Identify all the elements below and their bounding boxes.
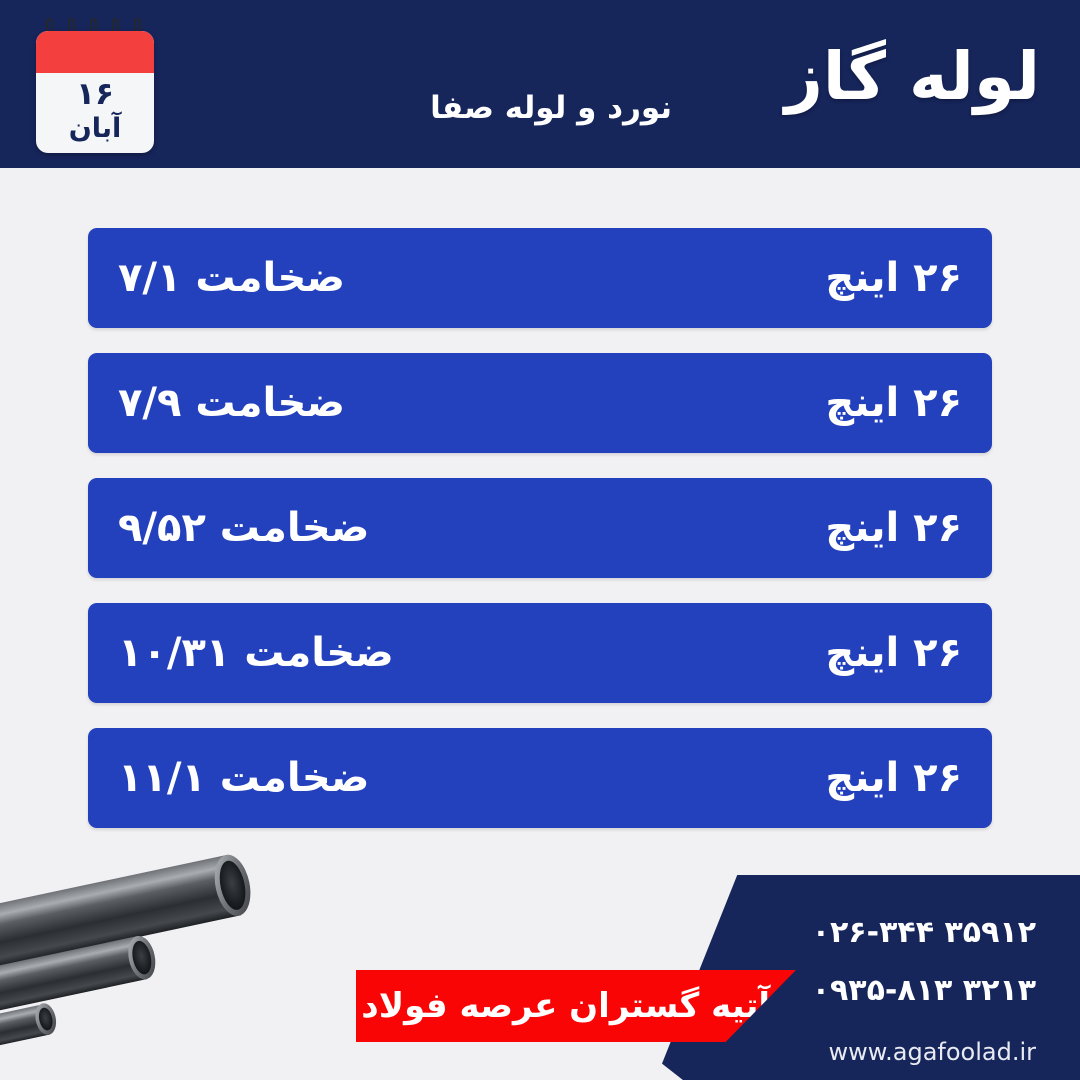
calendar-body: ۱۶ آبان (36, 31, 154, 153)
page-header: ۱۶ آبان لوله گاز نورد و لوله صفا (0, 0, 1080, 168)
product-row[interactable]: ۲۶ اینچ ضخامت ۱۰/۳۱ (88, 603, 992, 703)
row-size-label: ۲۶ اینچ (825, 728, 962, 828)
phone-number-landline[interactable]: ۰۲۶-۳۴۴ ۳۵۹۱۲ (706, 915, 1036, 950)
row-thickness-label: ضخامت ۱۱/۱ (118, 728, 369, 828)
product-row[interactable]: ۲۶ اینچ ضخامت ۷/۹ (88, 353, 992, 453)
page-subtitle: نورد و لوله صفا (430, 86, 672, 130)
company-banner: آتیه گستران عرصه فولاد (356, 970, 796, 1042)
row-size-label: ۲۶ اینچ (825, 478, 962, 578)
row-size-label: ۲۶ اینچ (825, 353, 962, 453)
row-thickness-label: ضخامت ۱۰/۳۱ (118, 603, 394, 703)
calendar-month: آبان (36, 113, 154, 145)
pipe-small (0, 1001, 59, 1057)
calendar-day: ۱۶ (36, 75, 154, 113)
company-name: آتیه گستران عرصه فولاد (361, 970, 770, 1042)
page-title: لوله گاز (785, 22, 1040, 132)
product-row[interactable]: ۲۶ اینچ ضخامت ۷/۱ (88, 228, 992, 328)
product-list: ۲۶ اینچ ضخامت ۷/۱ ۲۶ اینچ ضخامت ۷/۹ ۲۶ ا… (88, 228, 992, 853)
calendar-header-strip (36, 31, 154, 73)
product-row[interactable]: ۲۶ اینچ ضخامت ۱۱/۱ (88, 728, 992, 828)
steel-pipes-image (0, 850, 330, 1080)
website-link[interactable]: www.agafoolad.ir (706, 1038, 1036, 1066)
row-thickness-label: ضخامت ۷/۹ (118, 353, 345, 453)
calendar-icon: ۱۶ آبان (36, 18, 154, 153)
product-row[interactable]: ۲۶ اینچ ضخامت ۹/۵۲ (88, 478, 992, 578)
row-size-label: ۲۶ اینچ (825, 228, 962, 328)
row-size-label: ۲۶ اینچ (825, 603, 962, 703)
row-thickness-label: ضخامت ۷/۱ (118, 228, 345, 328)
row-thickness-label: ضخامت ۹/۵۲ (118, 478, 369, 578)
